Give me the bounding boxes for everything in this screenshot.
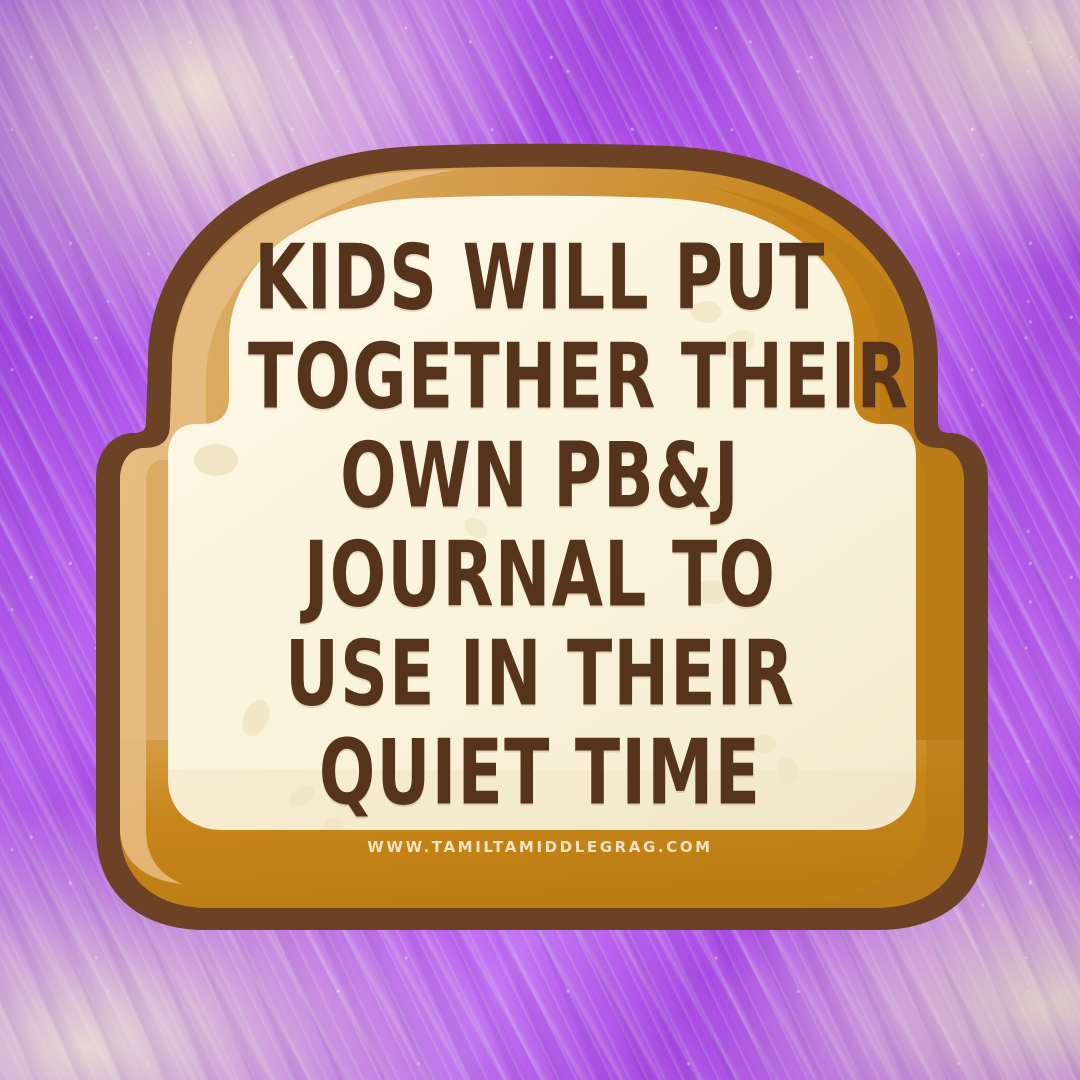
bread-inner [168, 196, 916, 830]
graphic-canvas: KIDS WILL PUT TOGETHER THEIR OWN PB&J JO… [0, 0, 1080, 1080]
bread-slice [88, 130, 996, 948]
